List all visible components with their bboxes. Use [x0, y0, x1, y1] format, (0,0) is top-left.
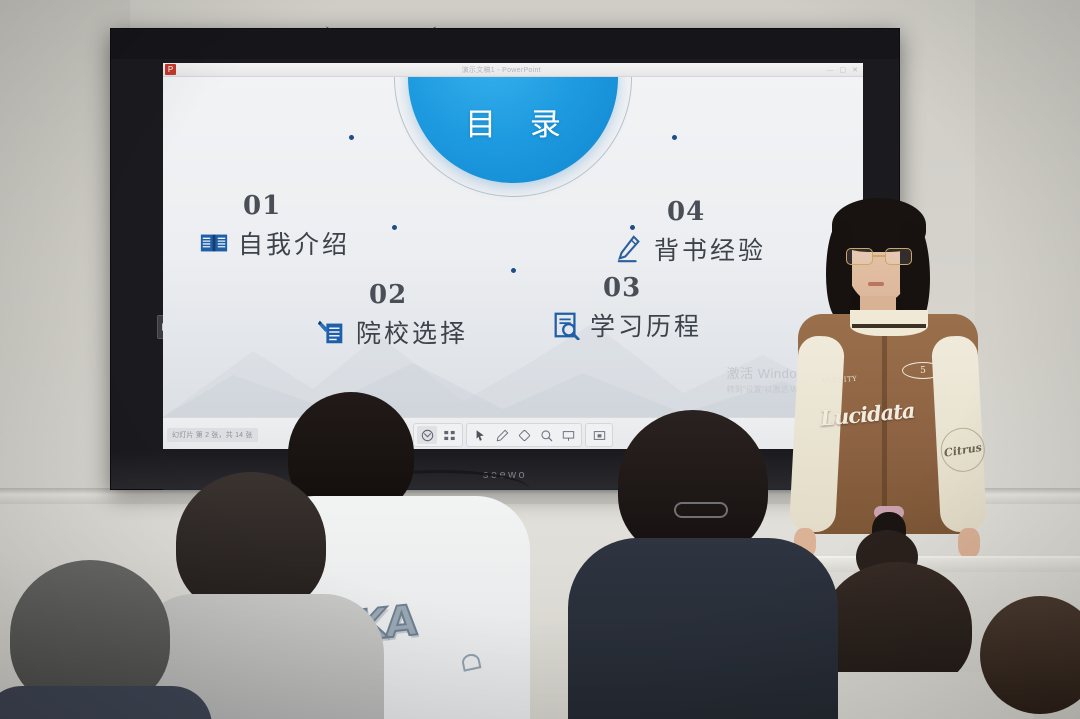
document-search-icon [551, 310, 581, 340]
powerpoint-icon: P [165, 64, 176, 75]
agenda-number: 02 [369, 282, 468, 308]
agenda-number: 04 [667, 199, 766, 225]
jacket-mini-text: VARSITY [822, 375, 858, 385]
minimize-button[interactable]: — [827, 66, 834, 74]
close-button[interactable]: ✕ [852, 66, 858, 74]
head [980, 596, 1080, 714]
jacket-collar [850, 310, 928, 336]
presenter-glasses-icon [846, 248, 912, 265]
agenda-label: 背书经验 [654, 231, 766, 267]
agenda-item-03[interactable]: 03 学习历程 [551, 275, 702, 343]
title-semicircle: 目 录 [408, 77, 618, 183]
arc-dot [391, 224, 398, 231]
eyeglasses-icon [674, 502, 728, 518]
agenda-number: 03 [603, 275, 702, 301]
pen-writing-icon [615, 234, 645, 264]
jacket-sleeve-badge: Citrus [938, 425, 988, 475]
jacket-number-chip: 5 [902, 362, 944, 379]
slide-counter: 幻灯片 第 2 张，共 14 张 [167, 428, 258, 442]
audience-person-far-right [980, 596, 1080, 719]
torso [0, 686, 212, 719]
presenter-person: Citrus VARSITY 5 Lucidata [788, 196, 988, 556]
agenda-label: 学习历程 [590, 307, 702, 343]
presenter-mouth [868, 282, 884, 286]
agenda-number: 01 [243, 193, 350, 219]
head [618, 410, 768, 558]
presenter-hair-left [826, 222, 852, 318]
classroom-scene: P 演示文稿1 - PowerPoint — ▢ ✕ [0, 0, 1080, 719]
agenda-item-04[interactable]: 04 背书经验 [615, 199, 766, 267]
arc-dot [348, 134, 355, 141]
agenda-label: 自我介绍 [238, 225, 350, 261]
jacket-collar-stripe [852, 324, 926, 328]
agenda-label: 院校选择 [356, 314, 468, 350]
audience-person-far-left [0, 560, 200, 719]
eraser-icon[interactable] [514, 426, 534, 444]
arc-dot [671, 134, 678, 141]
window-titlebar: P 演示文稿1 - PowerPoint — ▢ ✕ [163, 63, 863, 77]
audience-person-center [588, 410, 818, 719]
blackboard-icon[interactable] [558, 426, 578, 444]
torso [568, 538, 838, 719]
window-controls: — ▢ ✕ [827, 66, 864, 74]
presenter-varsity-jacket: Citrus VARSITY 5 Lucidata [798, 314, 978, 534]
zoom-icon[interactable] [536, 426, 556, 444]
wall-right-panel [975, 0, 1080, 500]
slide-heading: 目 录 [408, 99, 618, 144]
open-book-icon [199, 228, 229, 258]
board-bezel-top [111, 29, 899, 59]
window-title: 演示文稿1 - PowerPoint [176, 65, 827, 75]
arc-dot [510, 267, 517, 274]
slide-canvas[interactable]: 目 录 01 [163, 77, 863, 417]
maximize-button[interactable]: ▢ [840, 66, 847, 74]
agenda-item-02[interactable]: 02 院校选择 [317, 282, 468, 350]
notepad-pen-icon [317, 317, 347, 347]
agenda-item-01[interactable]: 01 自我介绍 [199, 193, 350, 261]
